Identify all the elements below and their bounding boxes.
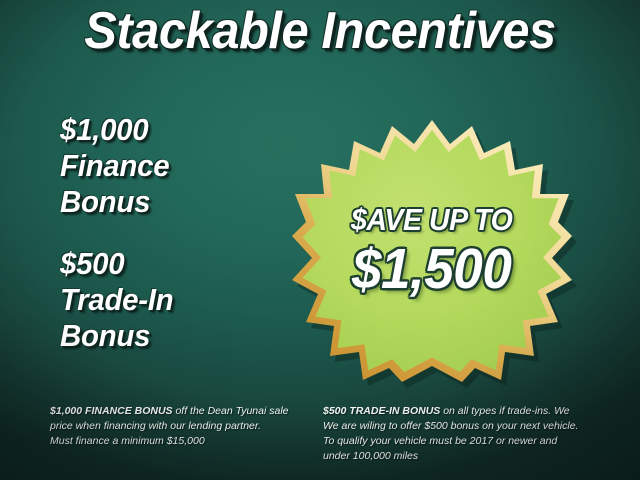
savings-starburst-badge: $AVE UP TO $1,500 — [290, 118, 574, 384]
fine-print-finance: $1,000 FINANCE BONUS off the Dean Tyunai… — [50, 404, 305, 464]
page-title: Stackable Incentives — [19, 2, 621, 60]
fine-print-trade-in-line2: We are wiling to offer $500 bonus on you… — [323, 419, 606, 434]
offer-trade-in-label-line2: Bonus — [60, 318, 173, 354]
fine-print-trade-in-line3: To qualify your vehicle must be 2017 or … — [323, 434, 606, 449]
fine-print-trade-in-line4: under 100,000 miles — [323, 449, 606, 464]
offer-trade-in-label-line1: Trade-In — [60, 282, 173, 318]
offer-finance-amount: $1,000 — [60, 112, 169, 148]
offer-finance-label-line2: Bonus — [60, 184, 169, 220]
fine-print-finance-line1: $1,000 FINANCE BONUS off the Dean Tyunai… — [50, 404, 305, 419]
fine-print-trade-in-line1: $500 TRADE-IN BONUS on all types if trad… — [323, 404, 606, 419]
offer-finance-bonus: $1,000 Finance Bonus — [60, 112, 169, 220]
fine-print-finance-line1-rest: off the Dean Tyunai sale — [173, 405, 289, 417]
fine-print: $1,000 FINANCE BONUS off the Dean Tyunai… — [50, 404, 606, 464]
offer-finance-label-line1: Finance — [60, 148, 169, 184]
promotional-banner: Stackable Incentives $1,000 Finance Bonu… — [0, 0, 640, 480]
fine-print-trade-in-line1-rest: on all types if trade-ins. We — [440, 405, 569, 417]
fine-print-finance-line3: Must finance a minimum $15,000 — [50, 434, 305, 449]
offer-trade-in-amount: $500 — [60, 246, 173, 282]
fine-print-trade-in-lead: $500 TRADE-IN BONUS — [323, 405, 440, 417]
fine-print-trade-in: $500 TRADE-IN BONUS on all types if trad… — [323, 404, 606, 464]
starburst-shape-icon — [290, 118, 574, 384]
fine-print-finance-line2: price when financing with our lending pa… — [50, 419, 305, 434]
offer-trade-in-bonus: $500 Trade-In Bonus — [60, 246, 173, 354]
fine-print-finance-lead: $1,000 FINANCE BONUS — [50, 405, 173, 417]
